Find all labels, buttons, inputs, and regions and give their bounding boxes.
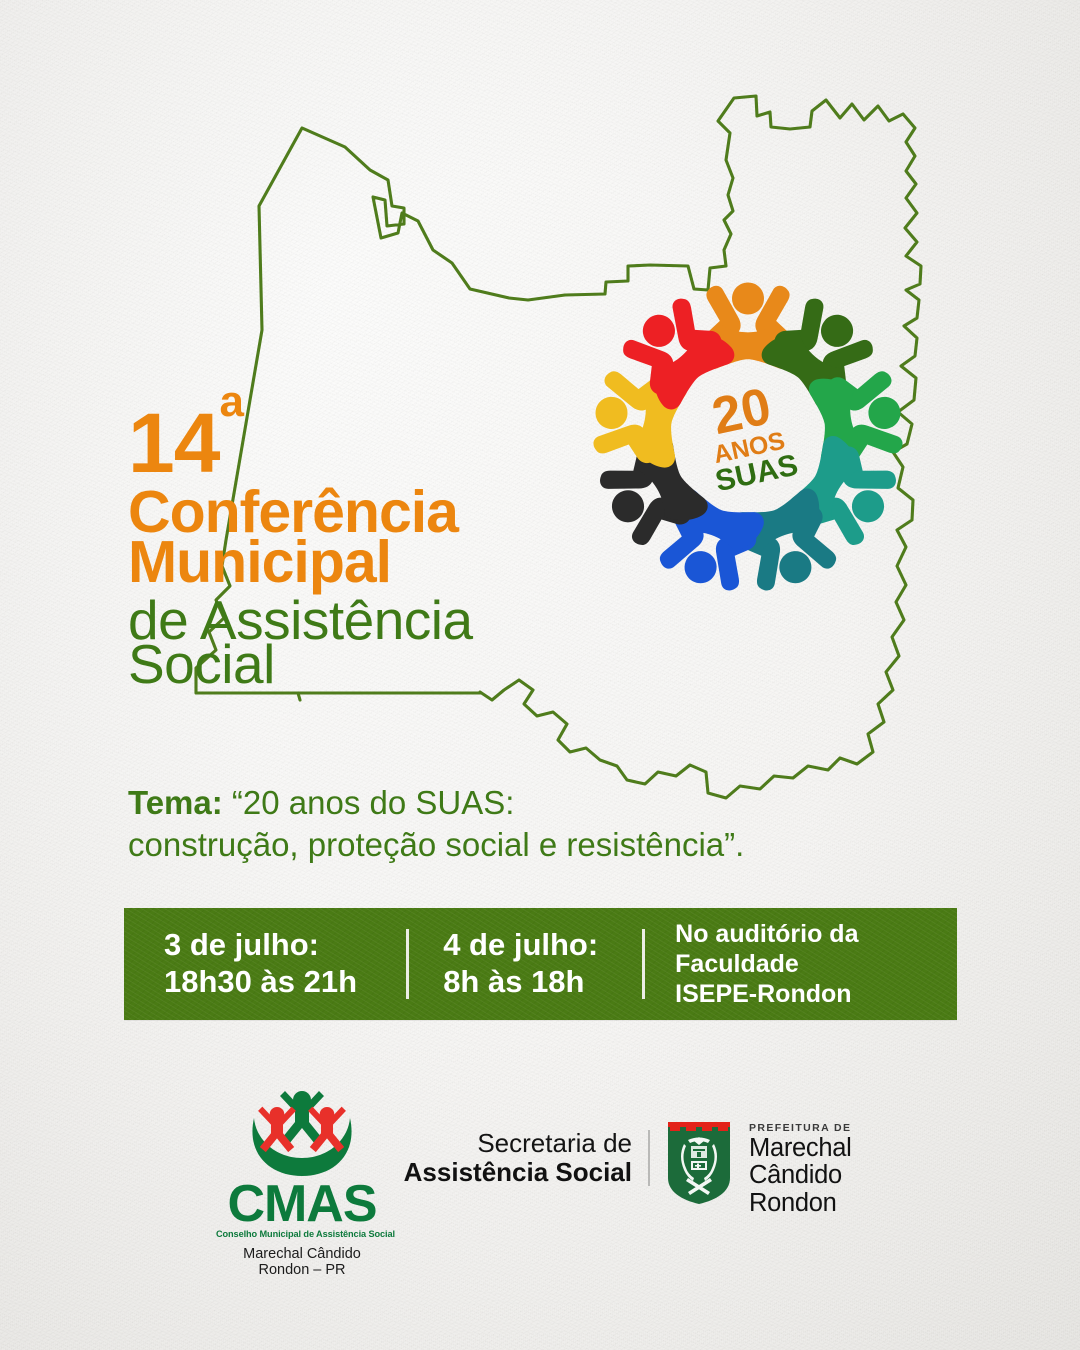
cmas-city: Marechal Cândido Rondon – PR xyxy=(216,1246,388,1278)
prefeitura-kicker: PREFEITURA DE xyxy=(749,1122,851,1134)
logo-row: CMAS Conselho Municipal de Assistência S… xyxy=(0,1080,1080,1290)
prefeitura-name-line-1: Marechal xyxy=(749,1135,851,1162)
venue-line-2: Faculdade xyxy=(675,949,957,979)
cmas-city-line-2: Rondon – PR xyxy=(216,1262,388,1278)
prefeitura-shield-icon xyxy=(666,1120,732,1211)
cmas-full-name: Conselho Municipal de Assistência Social xyxy=(216,1229,388,1239)
prefeitura-text: PREFEITURA DE Marechal Cândido Rondon xyxy=(749,1120,851,1217)
title-ordinal: 14a xyxy=(128,404,473,470)
cmas-logo: CMAS Conselho Municipal de Assistência S… xyxy=(216,1088,388,1278)
title-ordinal-number: 14 xyxy=(128,396,219,490)
poster-canvas: 20 ANOS SUAS 14a Conferência Municipal d… xyxy=(0,0,1080,1350)
map-outline-inner-line xyxy=(298,693,300,700)
theme-line-2: construção, proteção social e resistênci… xyxy=(128,824,948,866)
cmas-figures-icon xyxy=(216,1088,388,1180)
cmas-acronym: CMAS xyxy=(216,1182,388,1227)
info-cell-venue: No auditório da Faculdade ISEPE-Rondon xyxy=(645,919,957,1009)
theme-line-1: Tema: “20 anos do SUAS: xyxy=(128,782,948,824)
prefeitura-logo: PREFEITURA DE Marechal Cândido Rondon xyxy=(666,1120,851,1217)
secretaria-line-2: Assistência Social xyxy=(400,1158,632,1187)
suas-20-years-logo: 20 ANOS SUAS xyxy=(583,272,913,602)
prefeitura-name-line-2: Cândido xyxy=(749,1162,851,1189)
page-title: 14a Conferência Municipal de Assistência… xyxy=(128,404,473,691)
secretaria-logo: Secretaria de Assistência Social xyxy=(400,1129,632,1187)
theme-quote-start: “20 anos do SUAS: xyxy=(232,784,515,821)
info-cell-day-1: 3 de julho: 18h30 às 21h xyxy=(124,927,406,1000)
title-ordinal-suffix: a xyxy=(219,377,242,426)
theme-text: Tema: “20 anos do SUAS: construção, prot… xyxy=(128,782,948,865)
cmas-city-line-1: Marechal Cândido xyxy=(216,1246,388,1262)
day2-date: 4 de julho: xyxy=(443,927,642,964)
event-info-bar: 3 de julho: 18h30 às 21h 4 de julho: 8h … xyxy=(124,908,957,1020)
venue-line-1: No auditório da xyxy=(675,919,957,949)
day1-date: 3 de julho: xyxy=(164,927,406,964)
day2-time: 8h às 18h xyxy=(443,964,642,1001)
logo-divider xyxy=(648,1130,650,1186)
info-cell-day-2: 4 de julho: 8h às 18h xyxy=(409,927,642,1000)
secretaria-line-1: Secretaria de xyxy=(400,1129,632,1158)
venue-line-3: ISEPE-Rondon xyxy=(675,979,957,1009)
prefeitura-name-line-3: Rondon xyxy=(749,1190,851,1217)
theme-label: Tema: xyxy=(128,784,223,821)
day1-time: 18h30 às 21h xyxy=(164,964,406,1001)
